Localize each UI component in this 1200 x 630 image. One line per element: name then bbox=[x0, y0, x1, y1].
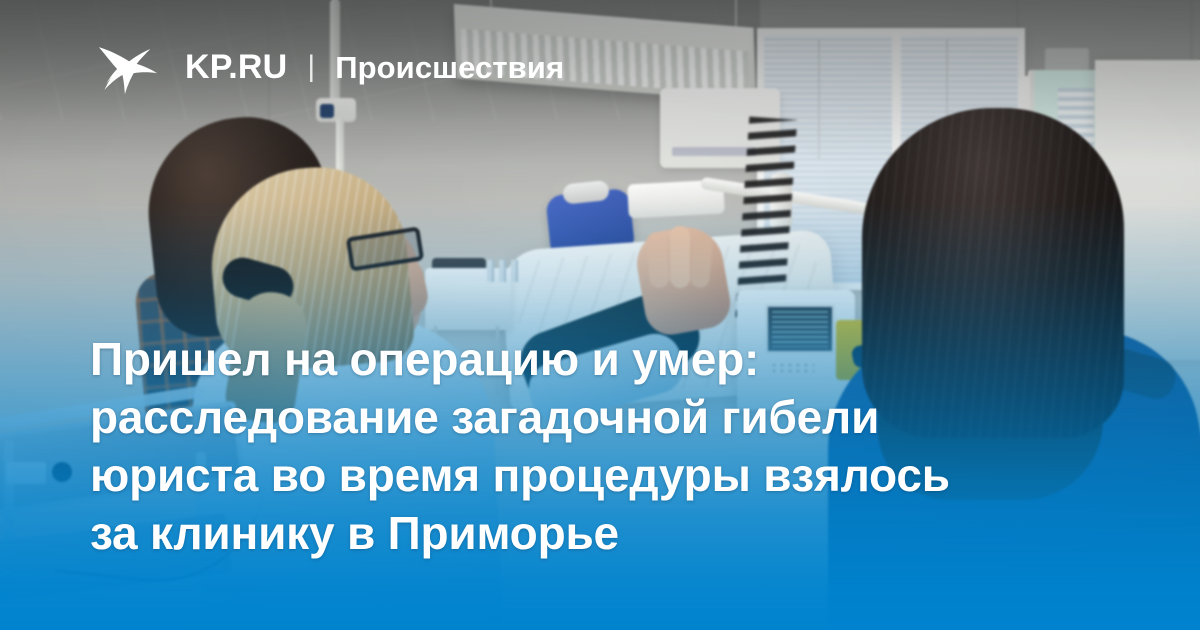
page-title: Пришел на операцию и умер: расследование… bbox=[90, 330, 1055, 562]
header: KP.RU | Происшествия bbox=[97, 38, 564, 96]
headline-line-4: за клинику в Приморье bbox=[90, 504, 1055, 562]
swallow-bird-icon[interactable] bbox=[97, 38, 159, 96]
headline-line-2: расследование загадочной гибели bbox=[90, 388, 1055, 446]
section-label[interactable]: Происшествия bbox=[335, 52, 564, 83]
headline-line-1: Пришел на операцию и умер: bbox=[90, 330, 1055, 388]
brand-label[interactable]: KP.RU bbox=[185, 50, 287, 84]
header-divider: | bbox=[307, 52, 315, 82]
share-card: KP.RU | Происшествия Пришел на операцию … bbox=[0, 0, 1200, 630]
headline-line-3: юриста во время процедуры взялось bbox=[90, 446, 1055, 504]
